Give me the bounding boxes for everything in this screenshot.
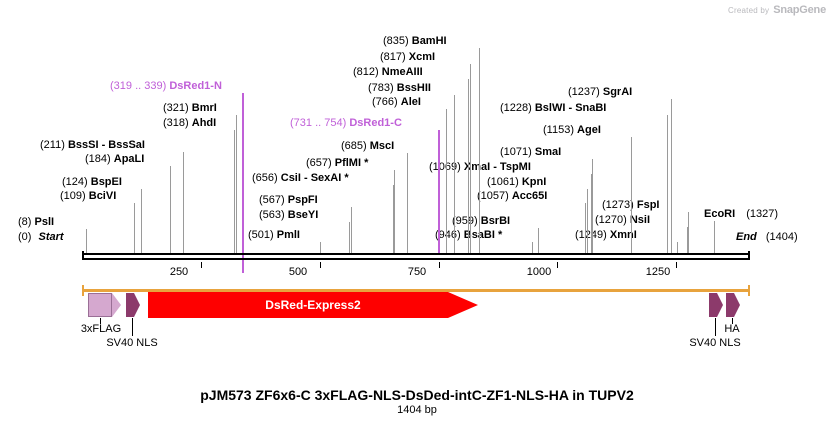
tick-line [454, 95, 455, 253]
feature-body [88, 293, 112, 317]
feature-track-end-cap [748, 285, 750, 296]
enzyme-label-bsrBI[interactable]: (959) BsrBI [452, 215, 510, 227]
created-by-label: Created by [728, 6, 769, 15]
feature-body [709, 293, 717, 317]
tick-line [587, 189, 588, 253]
ruler-tick [439, 262, 440, 268]
tick-line [667, 115, 668, 253]
page-title: pJM573 ZF6x6-C 3xFLAG-NLS-DsDed-intC-ZF1… [0, 387, 834, 403]
enzyme-label-bssHII[interactable]: (783) BssHII [368, 82, 431, 94]
feature-track-start-cap [82, 285, 84, 296]
enzyme-label-csiI[interactable]: (656) CsiI - SexAI * [252, 172, 349, 184]
backbone-end-cap [748, 251, 750, 260]
ruler-tick [557, 262, 558, 268]
enzyme-label-bseYI[interactable]: (563) BseYI [259, 209, 318, 221]
tick-line [320, 242, 321, 253]
feature-3xflag[interactable] [88, 293, 120, 317]
feature-label-sv40-nls-left: SV40 NLS [87, 337, 177, 349]
enzyme-label-apaLI[interactable]: (184) ApaLI [85, 153, 144, 165]
plasmid-map-canvas: Created by SnapGene (8) PslI (109) BciVI… [0, 0, 834, 427]
tick-line [134, 203, 135, 253]
enzyme-label-pslI[interactable]: (8) PslI [18, 216, 54, 228]
tick-line [141, 189, 142, 253]
tick-line [688, 212, 689, 253]
ruler-label-1250: 1250 [646, 266, 670, 278]
ruler-label-250: 250 [170, 266, 188, 278]
feature-arrowhead [112, 293, 121, 317]
tick-line [532, 242, 533, 253]
enzyme-label-sgrAI[interactable]: (1237) SgrAI [568, 86, 632, 98]
enzyme-label-ahdI[interactable]: (318) AhdI [163, 117, 216, 129]
tick-line [183, 152, 184, 253]
end-label: End (1404) [736, 231, 798, 243]
backbone-start-cap [82, 251, 84, 260]
tick-line [407, 153, 408, 253]
feature-ha[interactable] [726, 293, 740, 317]
sequence-backbone-bottom [82, 258, 750, 260]
feature-sv40-nls-left[interactable] [126, 293, 140, 317]
ruler-tick [320, 262, 321, 268]
tick-line [671, 99, 672, 253]
feature-body [726, 293, 734, 317]
feature-leader-line [132, 318, 133, 336]
feature-label-sv40-nls-right: SV40 NLS [670, 337, 760, 349]
feature-dsred-express2[interactable]: DsRed-Express2 [148, 292, 478, 318]
ruler-tick [201, 262, 202, 268]
ruler-tick [676, 262, 677, 268]
tick-line [170, 166, 171, 253]
enzyme-label-bssSI[interactable]: (211) BssSI - BssSaI [40, 139, 145, 151]
start-label: (0) Start [18, 231, 64, 243]
ruler: 250 500 750 1000 1250 [82, 262, 750, 276]
feature-arrowhead [717, 293, 723, 317]
tick-line [349, 222, 350, 253]
tick-line [592, 159, 593, 253]
enzyme-label-bamHI[interactable]: (835) BamHI [383, 35, 447, 47]
enzyme-label-pspFI[interactable]: (567) PspFI [259, 194, 318, 206]
ruler-label-750: 750 [408, 266, 426, 278]
enzyme-label-bspEI[interactable]: (124) BspEI [62, 176, 122, 188]
primer-tick-line [242, 93, 244, 273]
sequence-backbone-top [82, 253, 750, 255]
feature-arrowhead [134, 293, 140, 317]
feature-label-ha: HA [702, 323, 762, 335]
enzyme-label-ageI[interactable]: (1153) AgeI [543, 124, 601, 136]
feature-body [126, 293, 134, 317]
tick-line [585, 203, 586, 253]
tick-line [714, 221, 715, 253]
snapgene-logo: SnapGene [773, 4, 826, 16]
enzyme-label-pmlI[interactable]: (501) PmlI [248, 229, 300, 241]
enzyme-label-acc65I[interactable]: (1057) Acc65I [477, 190, 547, 202]
tick-line [631, 137, 632, 253]
primer-tick-line [438, 130, 440, 253]
enzyme-label-aleI[interactable]: (766) AleI [372, 96, 421, 108]
tick-line [351, 207, 352, 253]
tick-line [538, 228, 539, 253]
tick-line [470, 64, 471, 253]
snapgene-credit: Created by SnapGene [728, 4, 826, 16]
tick-line [236, 115, 237, 253]
enzyme-label-mscI[interactable]: (685) MscI [341, 140, 394, 152]
tick-line [394, 170, 395, 253]
tick-line [86, 229, 87, 253]
enzyme-label-pflMI[interactable]: (657) PflMI * [306, 157, 368, 169]
orf-label: DsRed-Express2 [148, 292, 478, 318]
ruler-label-500: 500 [289, 266, 307, 278]
primer-label-dsred1-c[interactable]: (731 .. 754) DsRed1-C [290, 117, 402, 129]
enzyme-label-kpnI[interactable]: (1061) KpnI [487, 176, 546, 188]
sequence-length: 1404 bp [0, 404, 834, 416]
enzyme-label-bslWI[interactable]: (1228) BslWI - SnaBI [500, 102, 606, 114]
feature-label-3xflag: 3xFLAG [66, 323, 136, 335]
primer-label-dsred1-n[interactable]: (319 .. 339) DsRed1-N [110, 80, 222, 92]
tick-line [446, 109, 447, 253]
feature-arrowhead [734, 293, 740, 317]
enzyme-label-bmrI[interactable]: (321) BmrI [163, 102, 217, 114]
tick-line [234, 130, 235, 253]
enzyme-label-xcmI[interactable]: (817) XcmI [380, 51, 435, 63]
enzyme-label-nsiI[interactable]: (1270) NsiI [595, 214, 650, 226]
enzyme-label-ecoRI[interactable]: EcoRI (1327) [704, 208, 778, 220]
enzyme-label-bciVI[interactable]: (109) BciVI [60, 190, 116, 202]
enzyme-label-smaI[interactable]: (1071) SmaI [500, 146, 561, 158]
feature-sv40-nls-right[interactable] [709, 293, 723, 317]
ruler-label-1000: 1000 [527, 266, 551, 278]
tick-line [479, 48, 480, 253]
enzyme-label-nmeAIII[interactable]: (812) NmeAIII [353, 66, 423, 78]
tick-line [468, 79, 469, 253]
tick-line [677, 242, 678, 253]
